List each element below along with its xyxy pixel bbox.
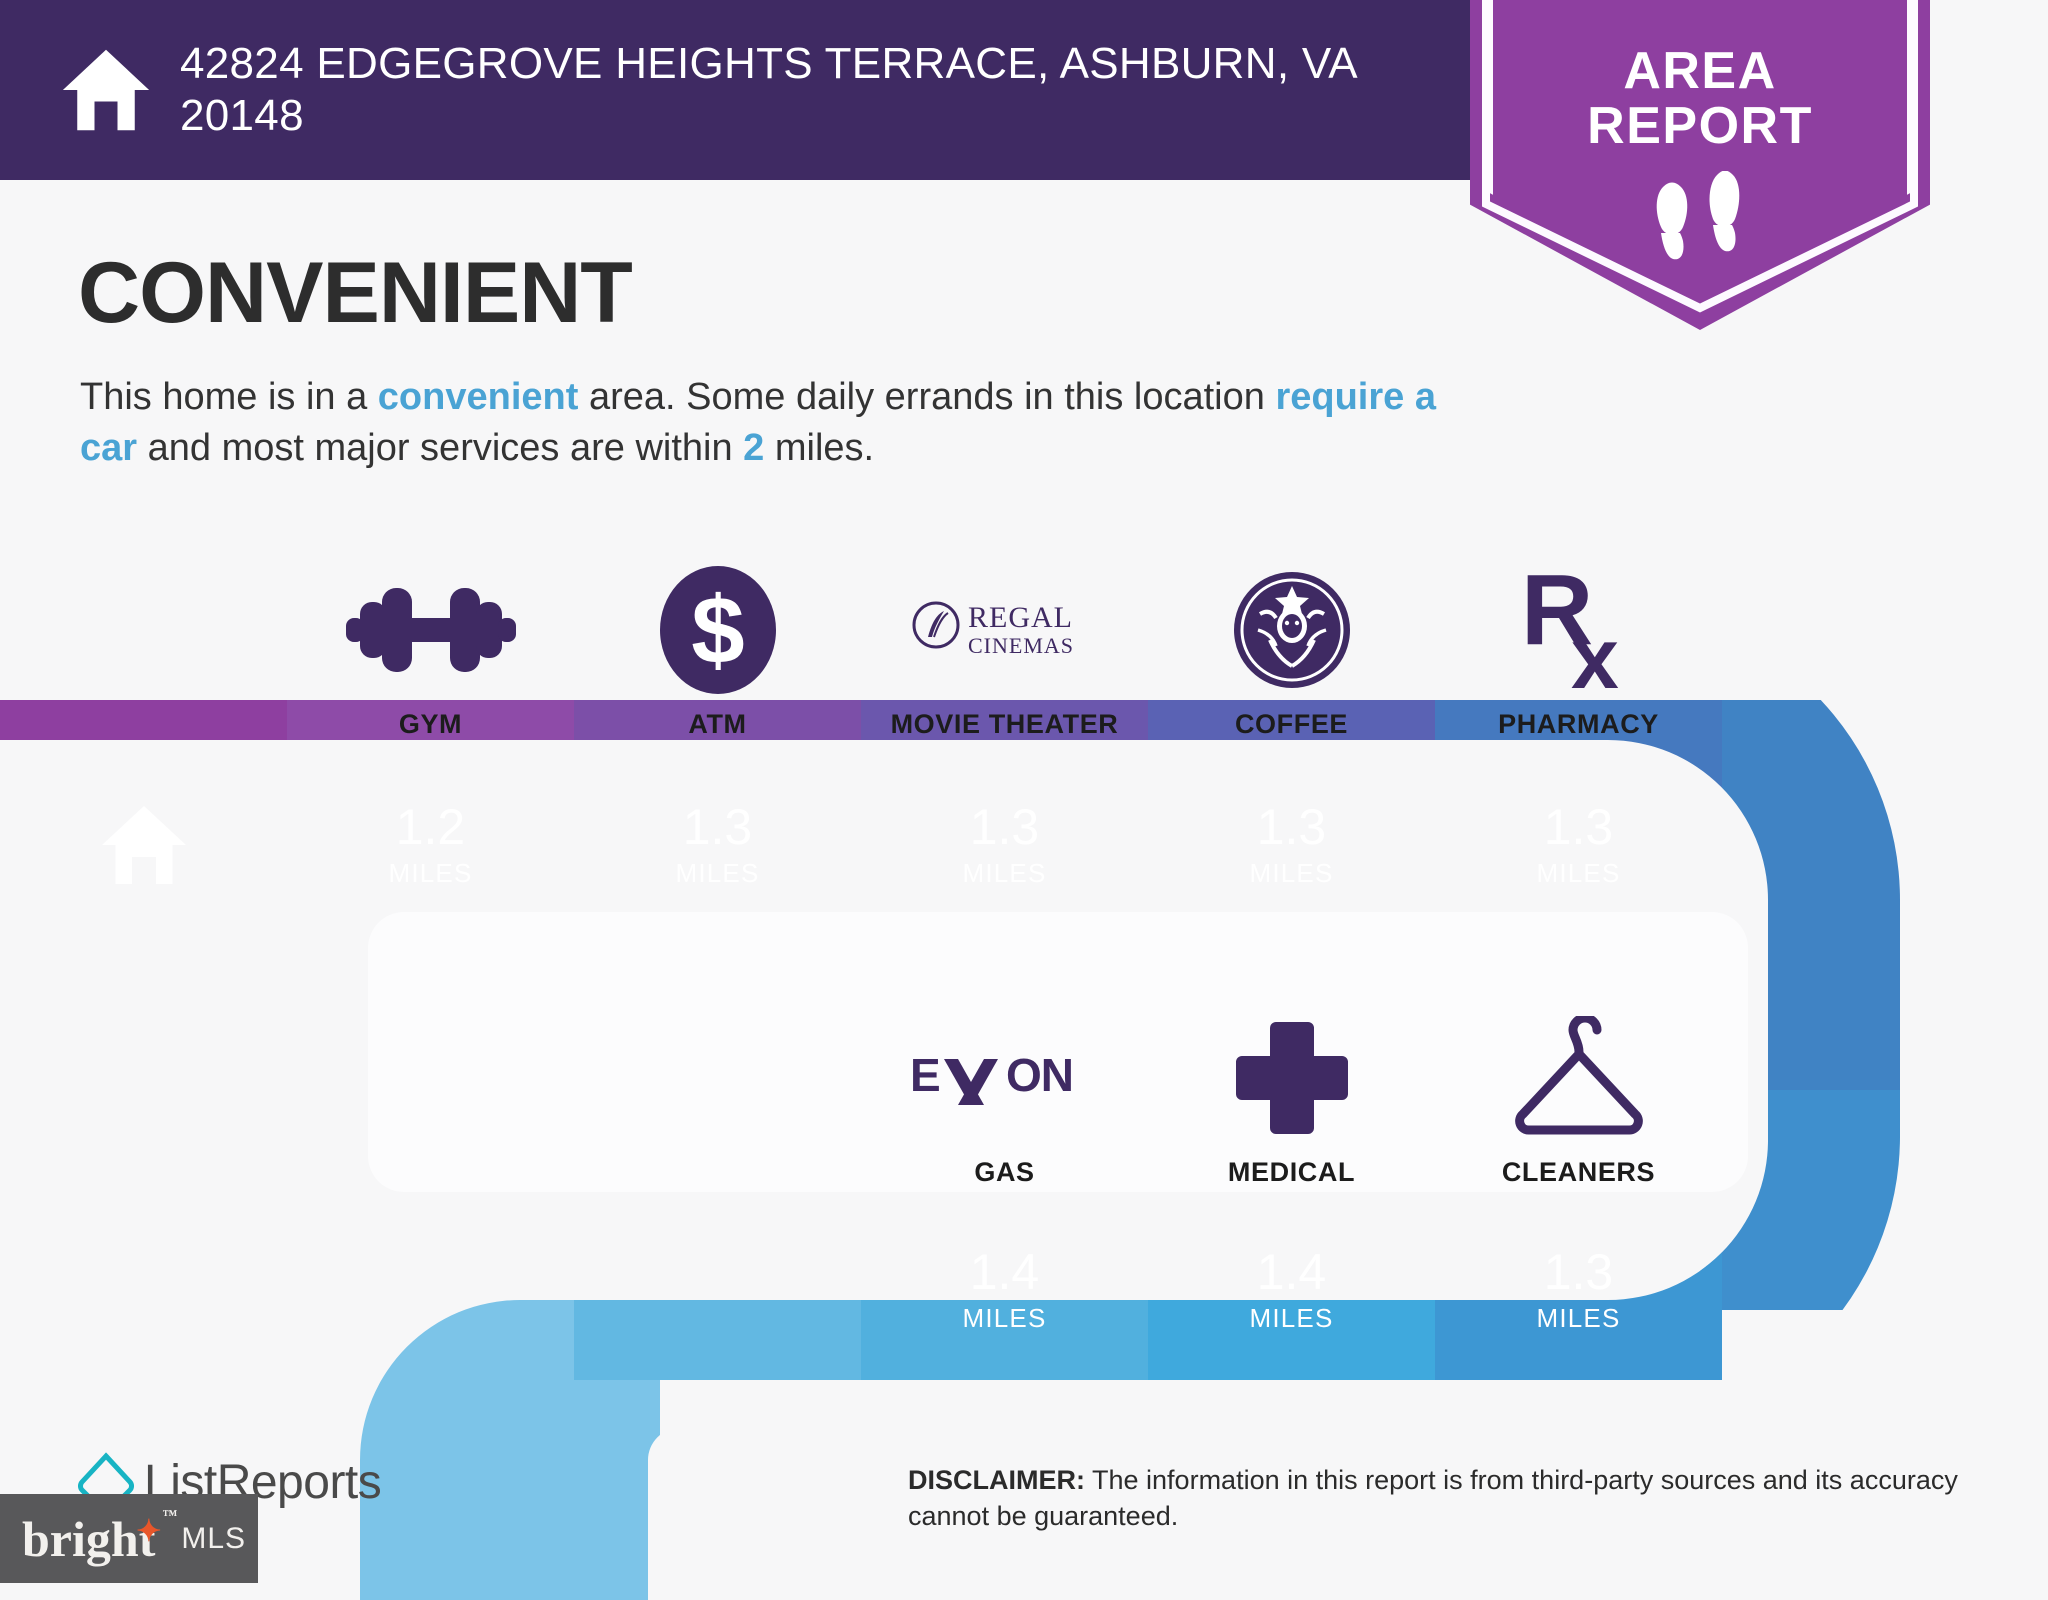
poi-label-pharmacy: PHARMACY <box>1498 709 1659 740</box>
subtext-part-1: This home is in a <box>80 376 378 418</box>
poi-icon-row-bottom: E ON GAS MEDICAL CLEANERS <box>0 948 2048 1188</box>
poi-label-movie-theater: MOVIE THEATER <box>891 709 1119 740</box>
poi-cell-movie-theater[interactable]: REGAL CINEMAS MOVIE THEATER <box>861 540 1148 740</box>
footprints-icon <box>1645 171 1755 263</box>
page-headline: CONVENIENT <box>78 244 632 343</box>
area-report-badge: AREA REPORT <box>1470 0 1930 330</box>
bright-mls-watermark: bright✦™ MLS <box>0 1494 258 1583</box>
brightmls-mls-text: MLS <box>181 1522 246 1556</box>
row1-spacer <box>0 540 287 740</box>
badge-line-2: REPORT <box>1470 99 1930 154</box>
svg-text:CINEMAS: CINEMAS <box>968 633 1074 658</box>
svg-text:REGAL: REGAL <box>968 601 1073 634</box>
poi-cell-coffee[interactable]: COFFEE <box>1148 540 1435 740</box>
poi-cell-gym[interactable]: GYM <box>287 540 574 740</box>
poi-label-cleaners: CLEANERS <box>1502 1157 1655 1188</box>
subtext-highlight-convenient: convenient <box>378 376 579 418</box>
trademark-symbol: ™ <box>162 1508 177 1525</box>
starbucks-icon <box>1230 565 1354 695</box>
poi-label-coffee: COFFEE <box>1235 709 1348 740</box>
svg-text:E: E <box>910 1049 940 1101</box>
poi-label-gas: GAS <box>974 1157 1034 1188</box>
poi-label-medical: MEDICAL <box>1228 1157 1355 1188</box>
poi-cell-gas[interactable]: E ON GAS <box>861 948 1148 1188</box>
svg-text:x: x <box>1571 611 1619 694</box>
home-icon <box>60 44 152 136</box>
page-subtext: This home is in a convenient area. Some … <box>80 372 1440 473</box>
subtext-part-3: and most major services are within <box>137 427 743 469</box>
exxon-icon: E ON <box>910 1013 1100 1143</box>
subtext-part-4: miles. <box>764 427 874 469</box>
row2-spacer <box>0 948 861 1188</box>
svg-text:$: $ <box>691 577 744 684</box>
poi-cell-medical[interactable]: MEDICAL <box>1148 948 1435 1188</box>
spark-icon: ✦ <box>136 1514 161 1549</box>
rx-icon: R x <box>1519 565 1639 695</box>
page-title: 42824 EDGEGROVE HEIGHTS TERRACE, ASHBURN… <box>180 38 1360 142</box>
poi-cell-cleaners[interactable]: CLEANERS <box>1435 948 1722 1188</box>
medical-cross-icon <box>1234 1013 1350 1143</box>
header-bar: 42824 EDGEGROVE HEIGHTS TERRACE, ASHBURN… <box>0 0 1480 180</box>
dollar-coin-icon: $ <box>660 565 776 695</box>
poi-icon-row-top: GYM $ ATM REGAL CINEMAS MOVIE THEATER <box>0 540 2048 740</box>
brightmls-wordmark: bright✦™ <box>22 1510 155 1568</box>
poi-cell-atm[interactable]: $ ATM <box>574 540 861 740</box>
svg-text:ON: ON <box>1006 1049 1073 1101</box>
subtext-part-2: area. Some daily errands in this locatio… <box>578 376 1275 418</box>
poi-cell-pharmacy[interactable]: R x PHARMACY <box>1435 540 1722 740</box>
dumbbell-icon <box>346 565 516 695</box>
poi-label-atm: ATM <box>688 709 746 740</box>
hanger-icon <box>1509 1013 1649 1143</box>
subtext-highlight-miles: 2 <box>743 427 764 469</box>
disclaimer: DISCLAIMER: The information in this repo… <box>908 1462 1988 1535</box>
poi-label-gym: GYM <box>399 709 462 740</box>
disclaimer-label: DISCLAIMER: <box>908 1465 1085 1495</box>
badge-title: AREA REPORT <box>1470 0 1930 153</box>
badge-line-1: AREA <box>1470 44 1930 99</box>
regal-cinemas-icon: REGAL CINEMAS <box>910 565 1100 695</box>
